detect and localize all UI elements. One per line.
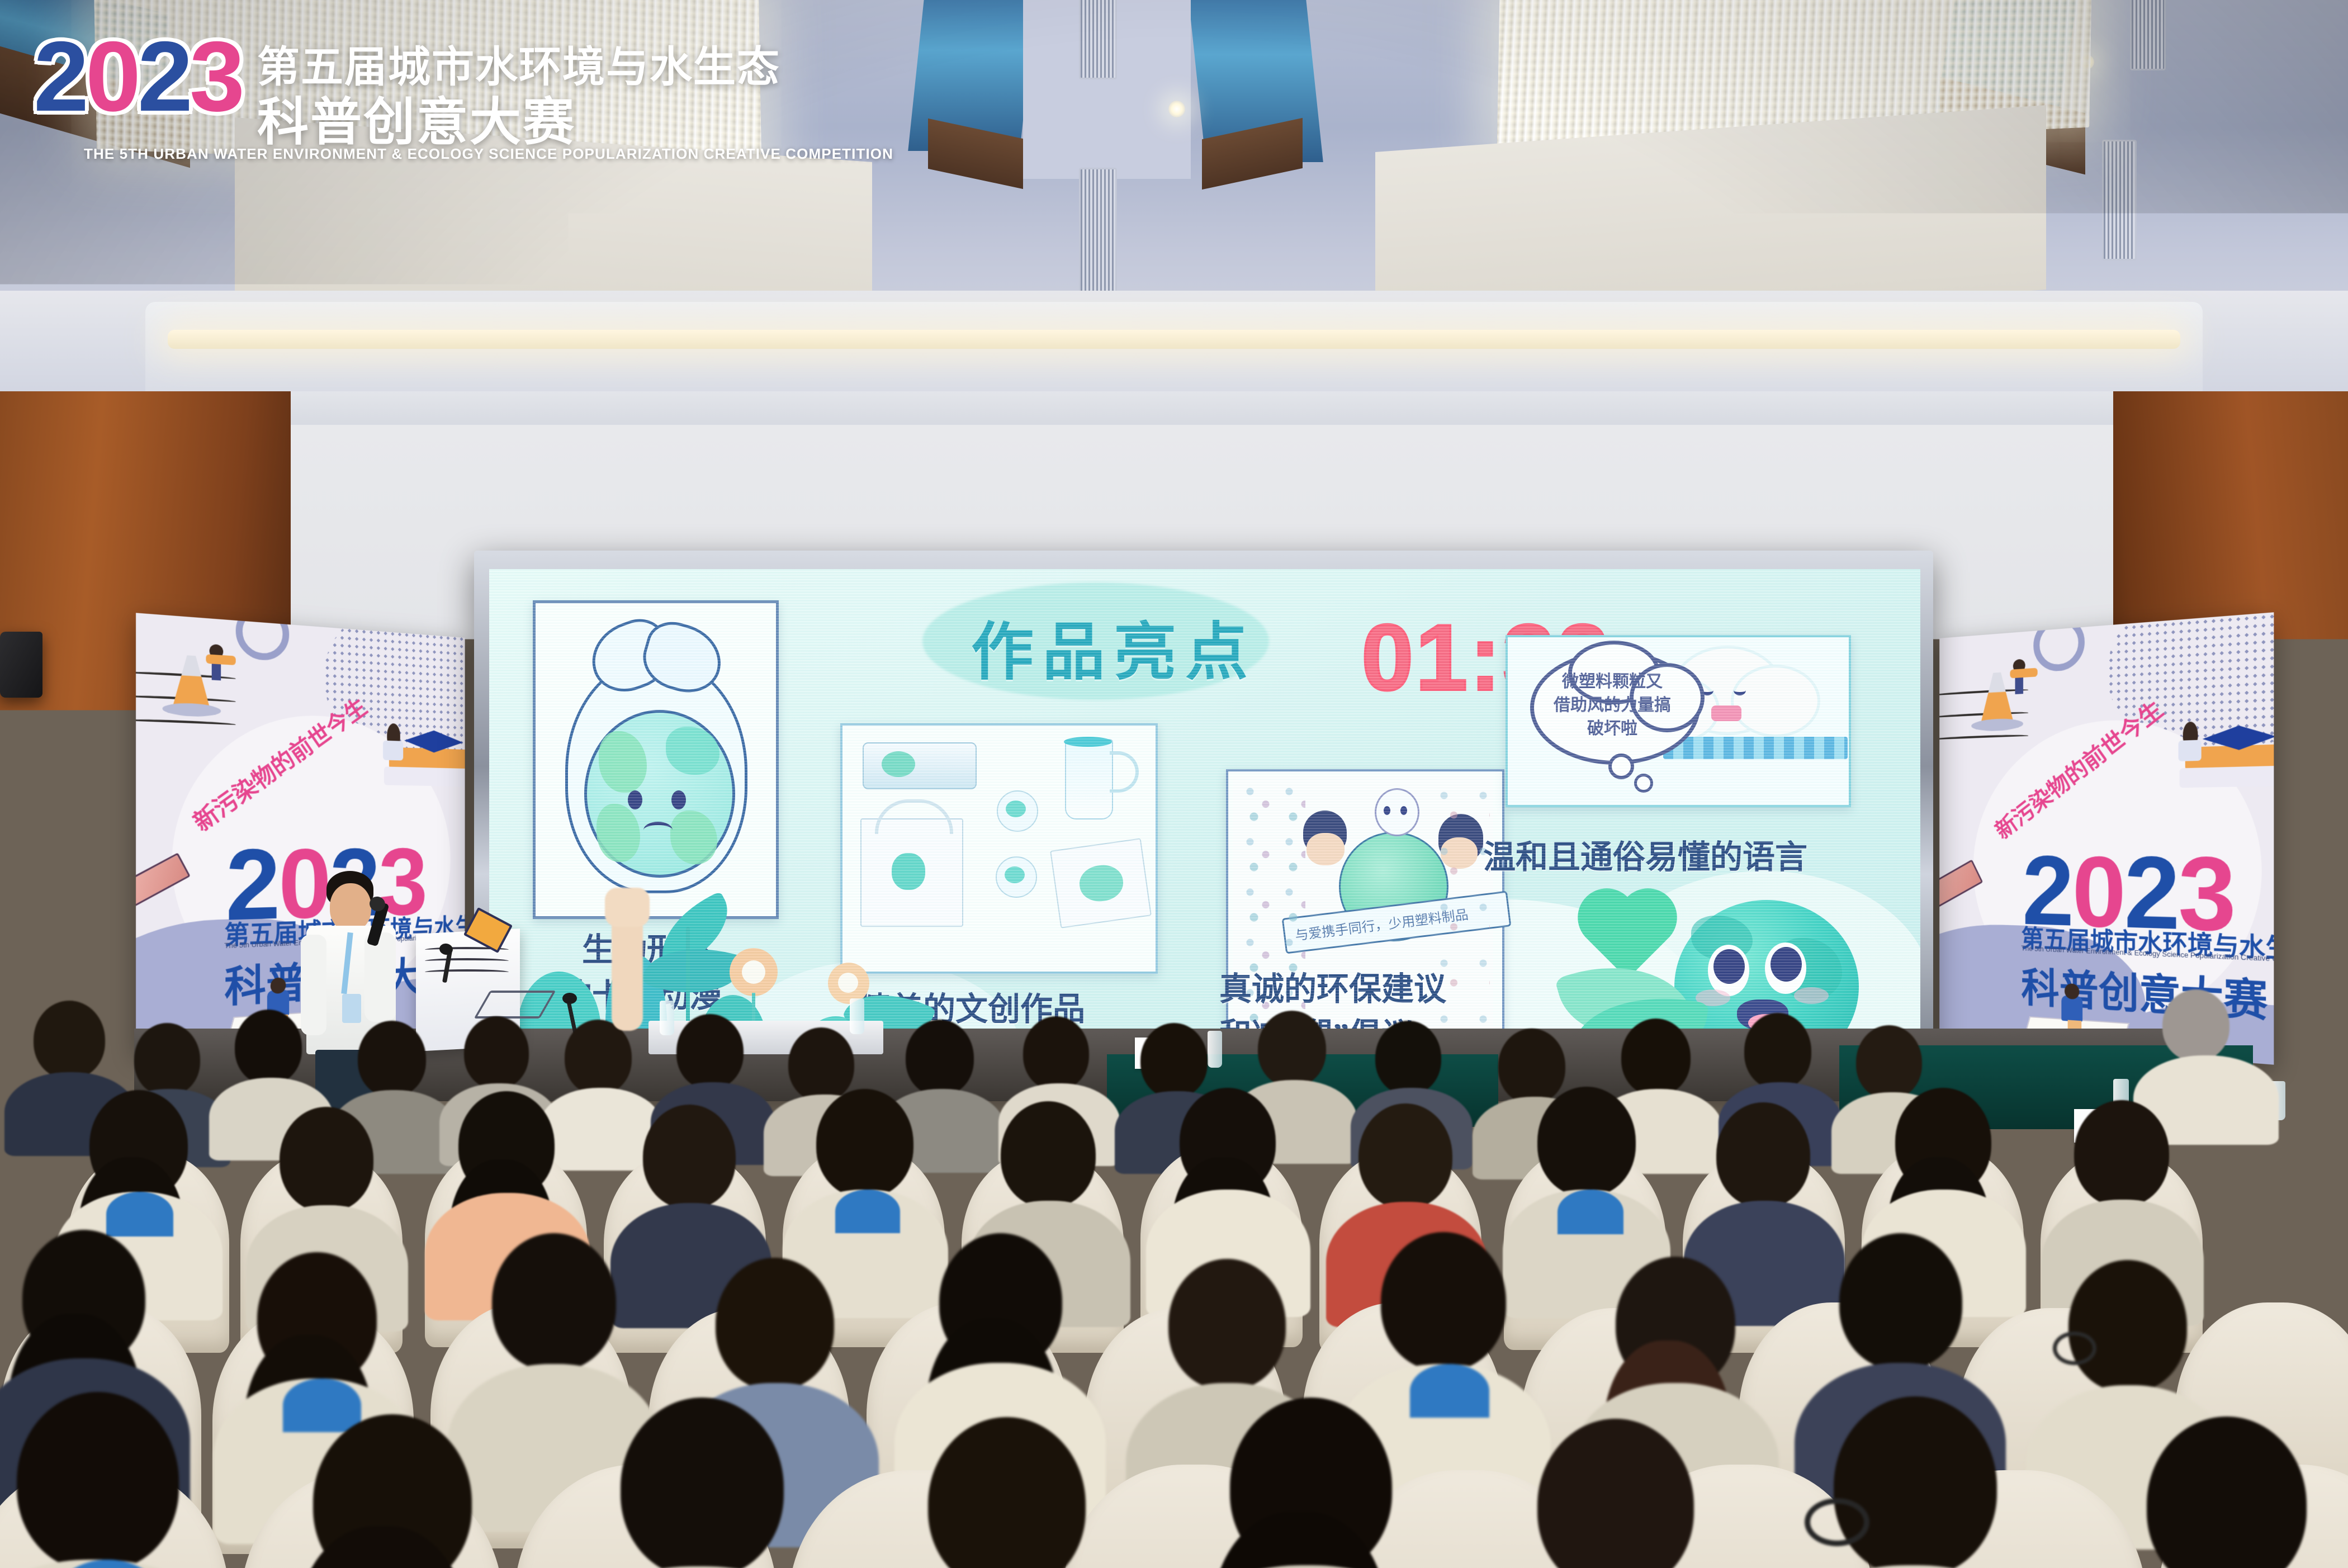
photo-scene: 新污染物的前世今生 2023 第五届城市水环境与水生态 The 5th Urba…: [0, 0, 2348, 1568]
speech-bubble-line1: 微塑料颗粒又: [1542, 671, 1682, 694]
merch-pencil-case: [863, 742, 977, 789]
ceiling-vent: [1079, 168, 1117, 305]
logo-digit-0: 0: [86, 21, 138, 132]
logo-digit-2b: 2: [138, 21, 190, 132]
flask-illustration: [173, 655, 210, 707]
ceiling-vent: [2102, 140, 2137, 260]
eyeglasses-icon: [1805, 1498, 1869, 1546]
speech-bubble-line3: 破坏啦: [1542, 718, 1682, 741]
caption-language: 温和且通俗易懂的语言: [1483, 831, 1807, 878]
merch-mug: [1065, 739, 1113, 819]
banner-right: 新污染物的前世今生 2023 第五届城市水环境与水生态 The 5th Urba…: [1939, 612, 2274, 1064]
water-bottle: [850, 998, 864, 1034]
water-bottle: [660, 1001, 674, 1035]
presentation-screen: 作品亮点 01:32 生动形象 的卡通动漫 精美的文创作品: [489, 569, 1920, 1078]
cove-lighting: [168, 330, 2180, 349]
flask-illustration: [1981, 671, 2013, 722]
slide-title: 作品亮点: [971, 601, 1257, 692]
ceiling-vent: [1079, 0, 1117, 79]
ceiling-vent: [2130, 0, 2166, 70]
caption-advice-line1: 真诚的环保建议: [1219, 963, 1446, 1010]
logo-title-line2: 科普创意大赛: [257, 80, 576, 155]
logo-digit-2: 2: [34, 21, 86, 132]
water-bottle: [1208, 1031, 1222, 1068]
logo-year: 2023: [34, 27, 242, 126]
logo-subtitle-en: THE 5TH URBAN WATER ENVIRONMENT & ECOLOG…: [84, 145, 893, 163]
loudspeaker: [0, 632, 42, 698]
ceiling-spotlight: [1168, 101, 1185, 117]
name-badge: [342, 994, 361, 1023]
speech-bubble-line2: 借助风的力量搞: [1542, 694, 1682, 717]
logo-digit-3: 3: [190, 21, 242, 132]
eyeglasses-icon: [2053, 1332, 2096, 1365]
